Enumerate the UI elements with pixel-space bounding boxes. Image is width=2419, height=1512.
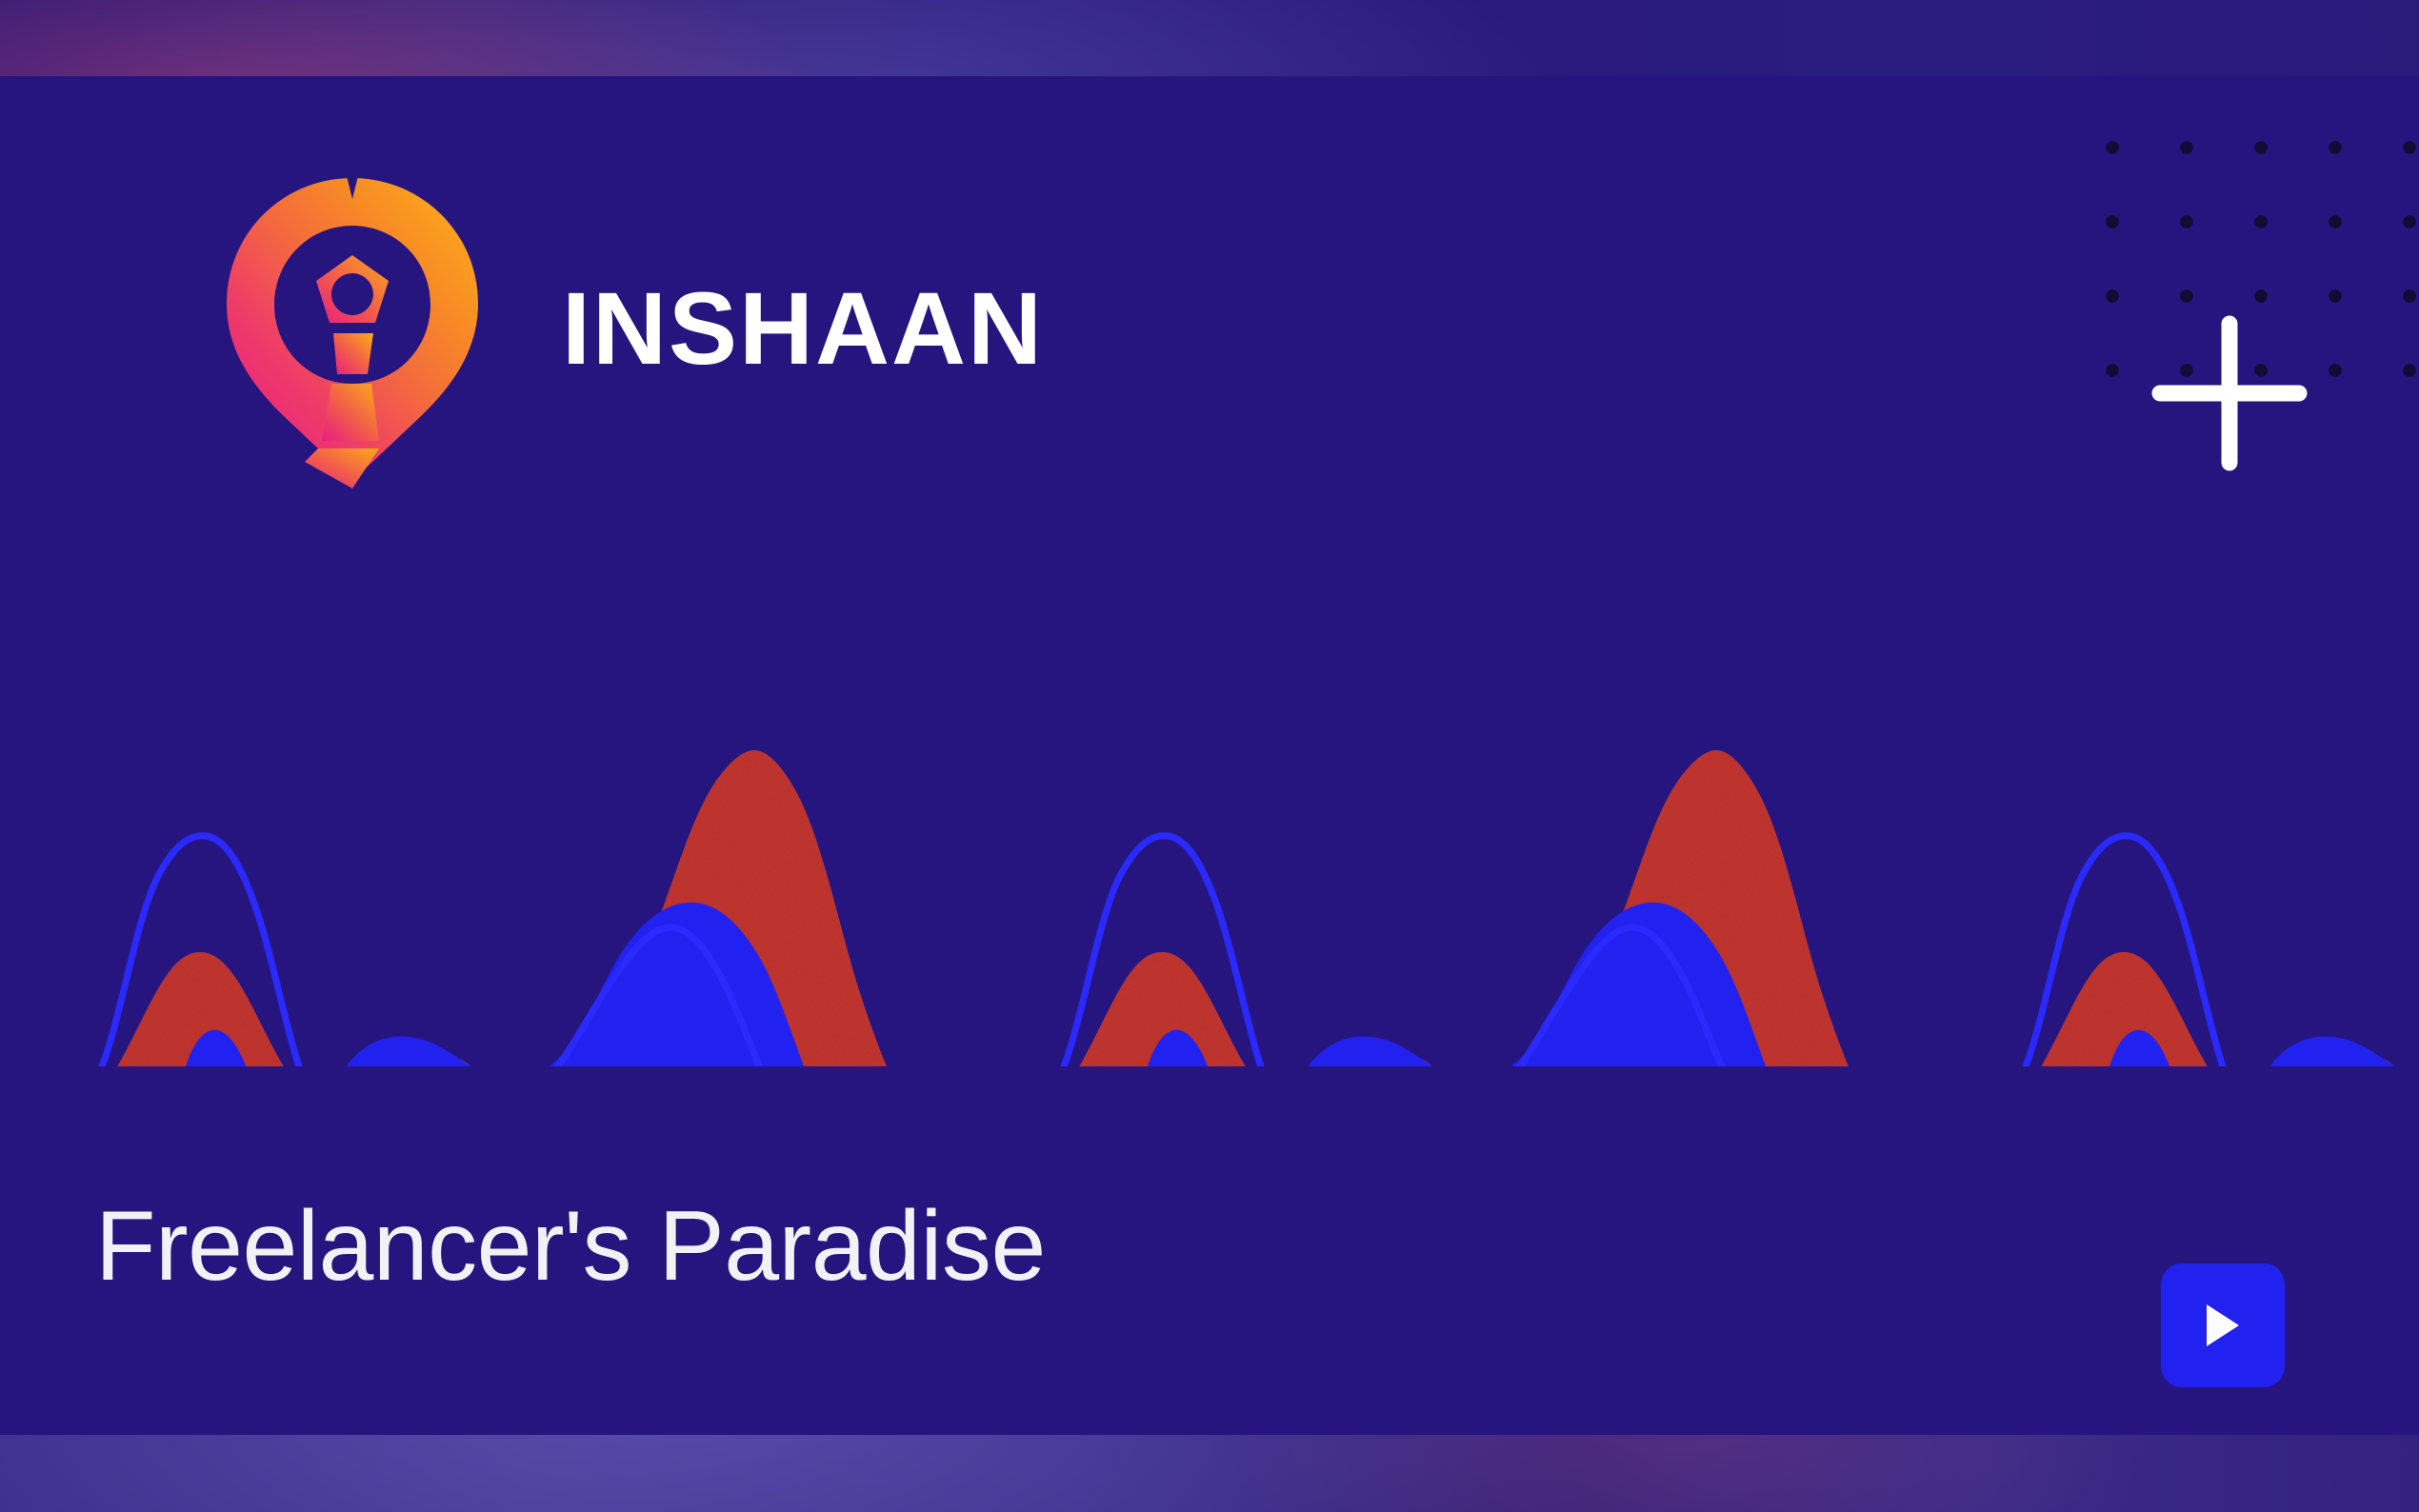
hero-card: INSHAAN [0, 76, 2419, 1435]
brand-wordmark: INSHAAN [562, 277, 1044, 380]
play-button[interactable] [2161, 1263, 2285, 1387]
audio-waveform-chart [0, 638, 2419, 1066]
waveform-red-area [8, 750, 2419, 1066]
ambient-bottom-band [0, 1435, 2419, 1512]
play-icon [2201, 1301, 2245, 1350]
plus-icon[interactable] [2150, 314, 2309, 472]
brand-lockup[interactable]: INSHAAN [190, 167, 1044, 490]
location-pin-tie-logo-icon [190, 167, 514, 490]
page-title: Freelancer's Paradise [95, 1192, 1046, 1301]
ambient-top-band [0, 0, 2419, 76]
poster-canvas: INSHAAN [0, 0, 2419, 1512]
